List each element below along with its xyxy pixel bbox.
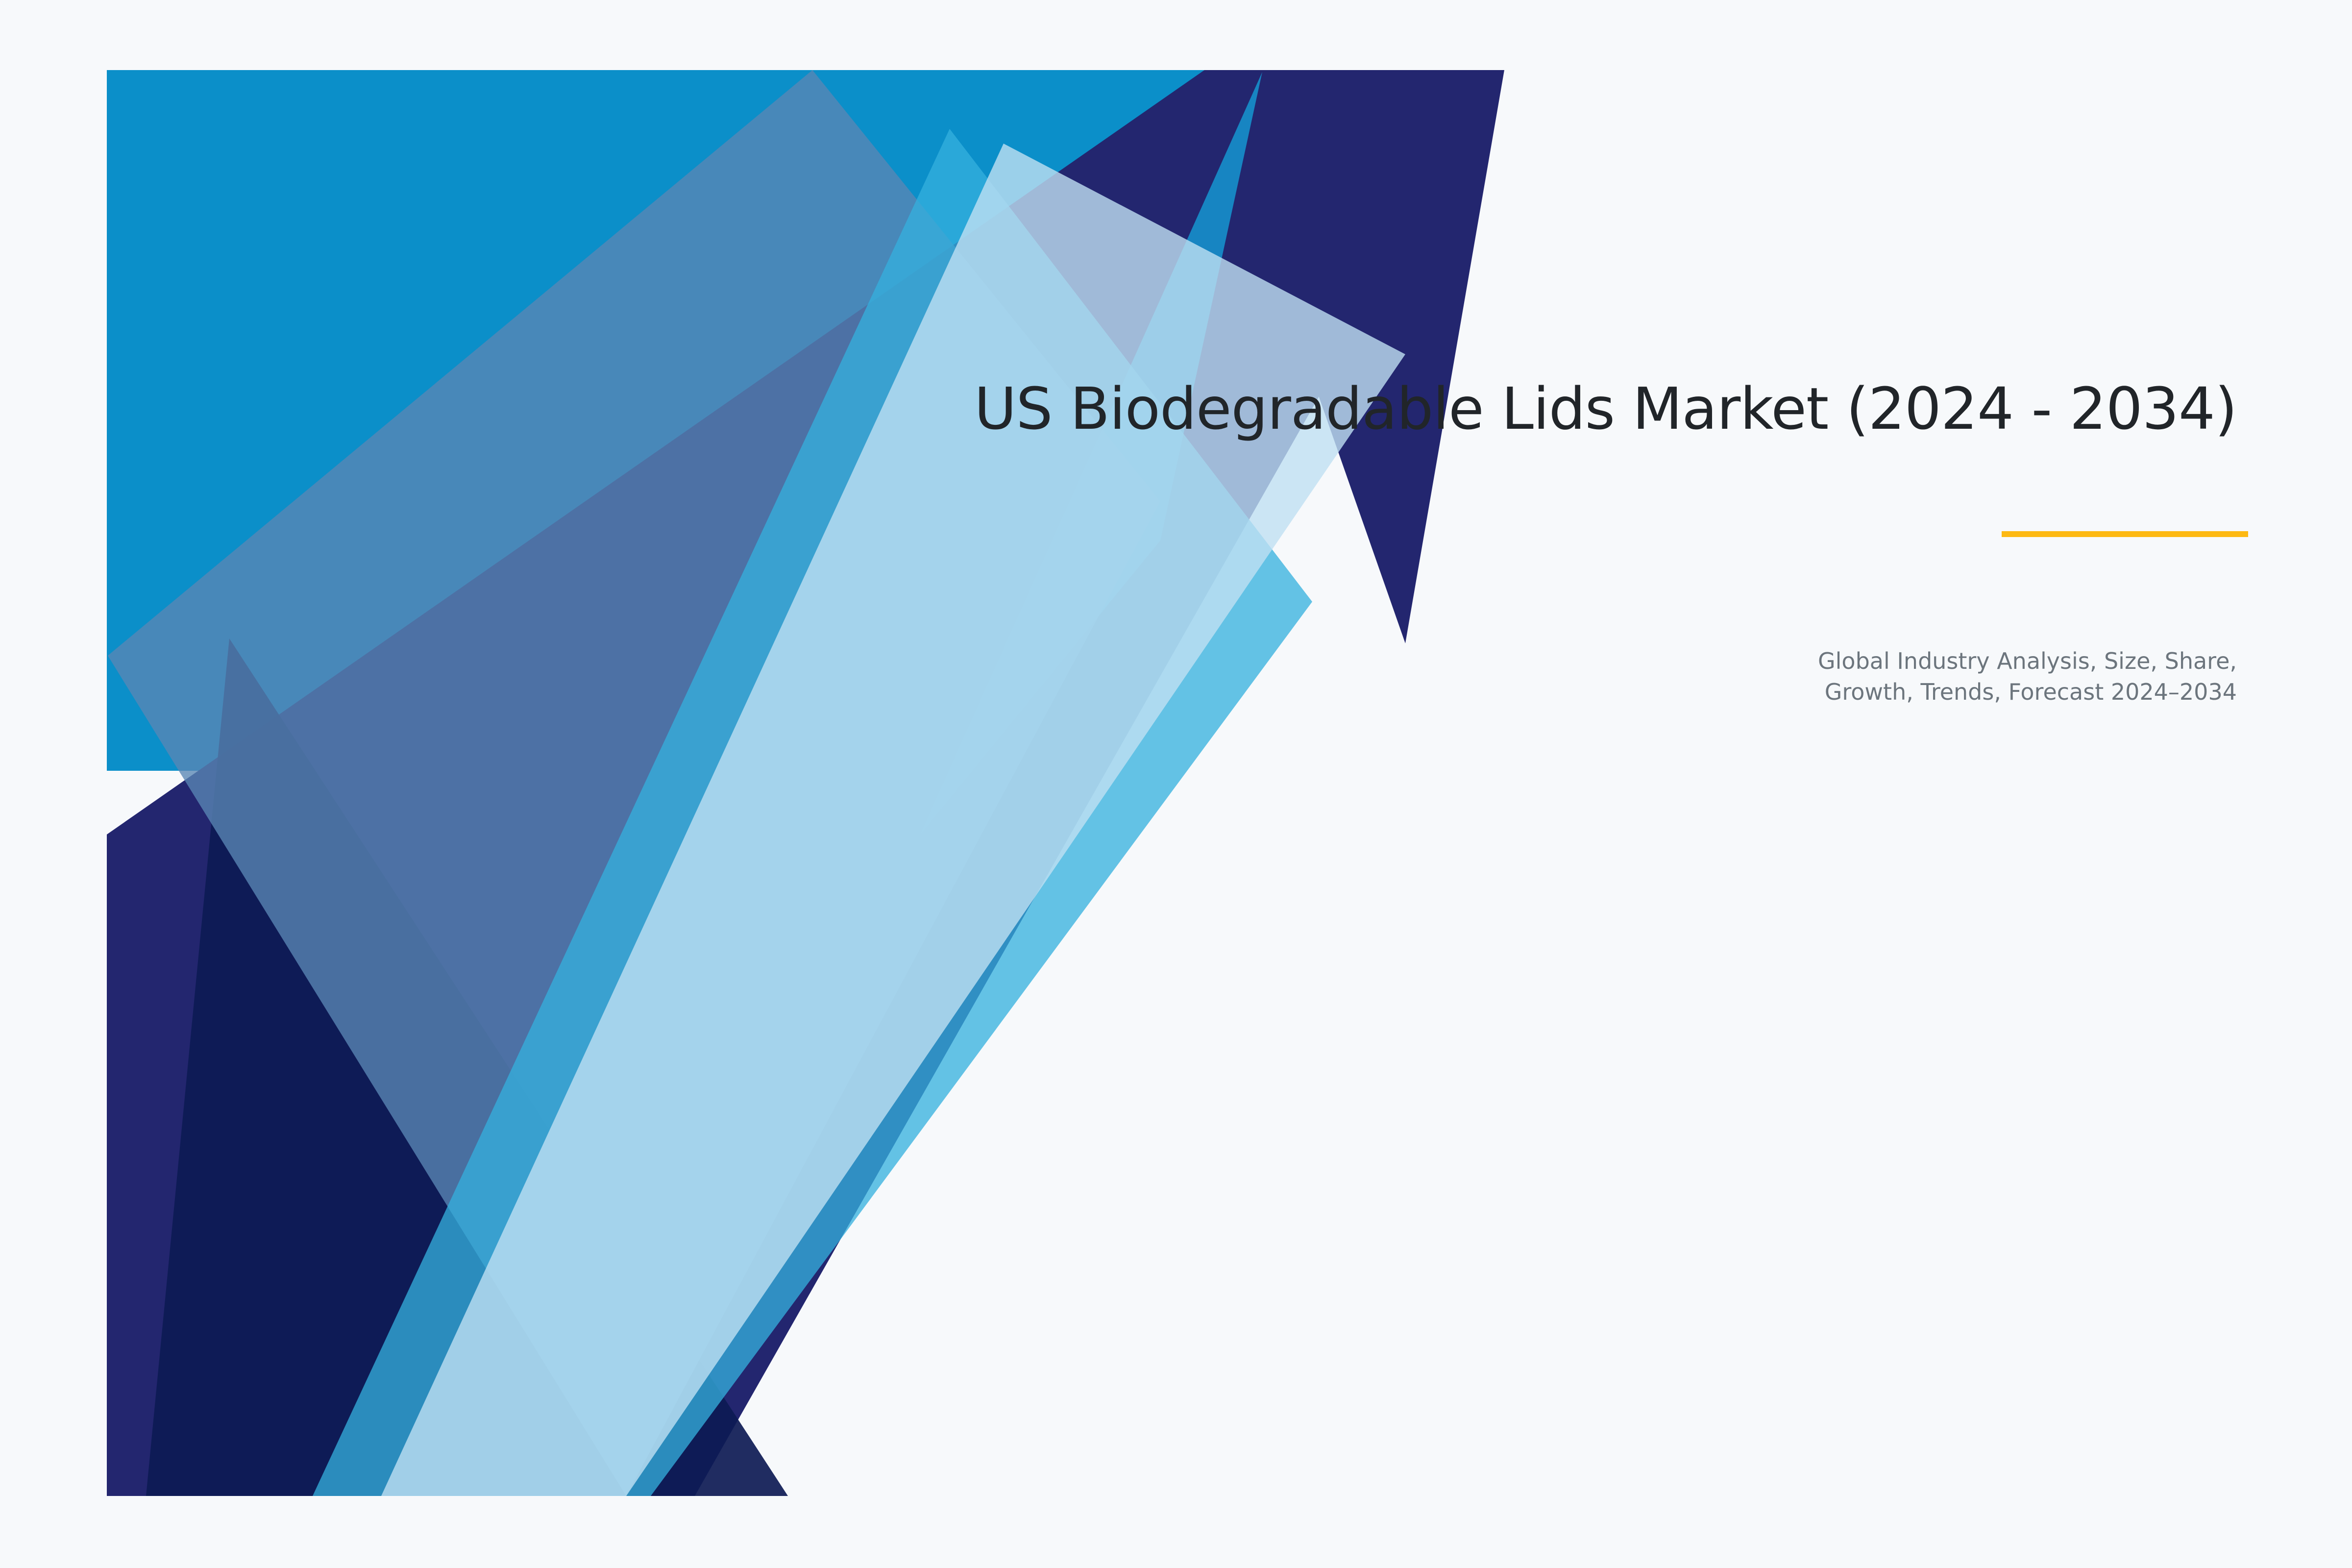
abstract-geometric-artwork	[107, 70, 1504, 1496]
page-title: US Biodegradable Lids Market (2024 - 203…	[892, 372, 2237, 445]
subtitle-block: Global Industry Analysis, Size, Share, G…	[1323, 646, 2237, 708]
page-subtitle: Global Industry Analysis, Size, Share, G…	[1323, 646, 2237, 708]
title-accent-underline	[2002, 531, 2248, 537]
title-block: US Biodegradable Lids Market (2024 - 203…	[892, 372, 2237, 445]
cover-page: US Biodegradable Lids Market (2024 - 203…	[0, 0, 2352, 1568]
